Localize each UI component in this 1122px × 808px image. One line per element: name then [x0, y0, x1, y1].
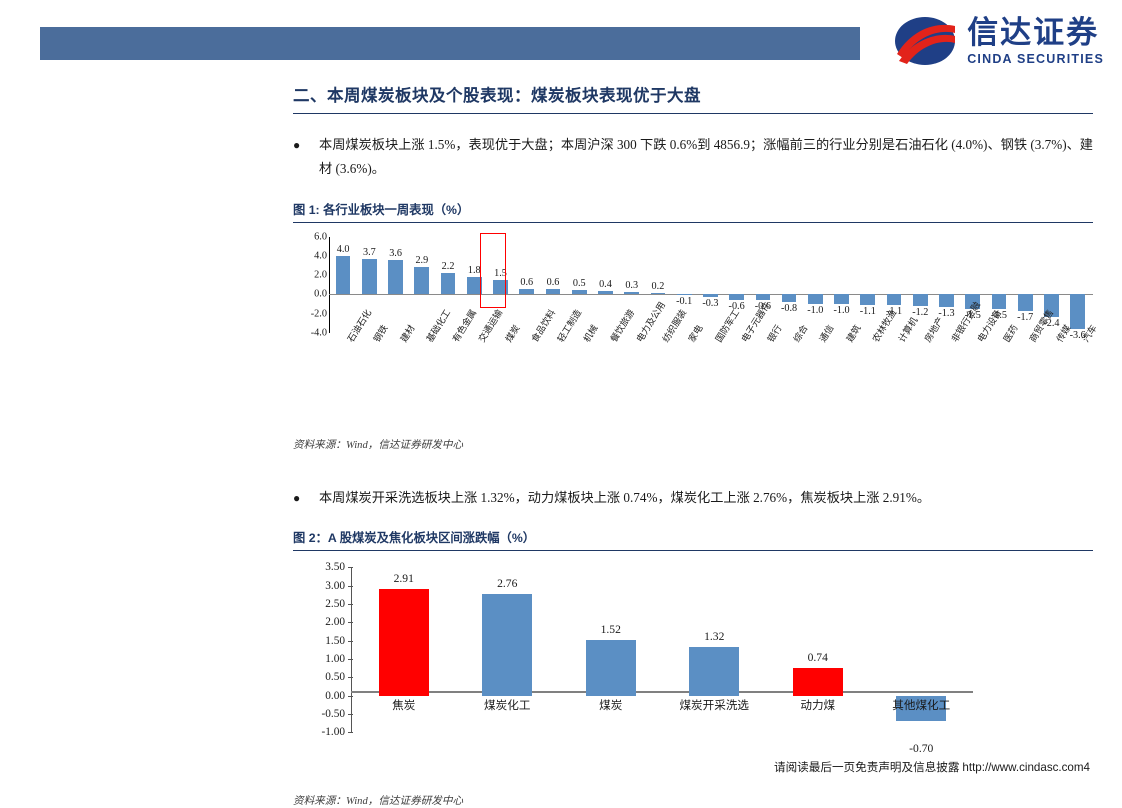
chart1-bar	[467, 277, 482, 294]
logo-text-en: CINDA SECURITIES	[967, 53, 1104, 66]
chart1-bar	[808, 294, 823, 304]
chart1-bar	[546, 289, 561, 295]
chart2-value-label: 1.32	[704, 630, 724, 643]
chart1-value-label: 0.3	[625, 280, 638, 291]
chart1-value-label: -0.1	[676, 296, 692, 307]
chart2-bar-column: 2.91焦炭	[352, 567, 456, 732]
chart2-y-tick: 3.00	[325, 580, 345, 592]
chart1-value-label: 2.9	[415, 255, 428, 266]
chart1-bar	[572, 290, 587, 295]
chart2-y-tick: 0.00	[325, 690, 345, 702]
logo-text-cn: 信达证券	[967, 17, 1104, 48]
header-accent-bar	[40, 27, 860, 60]
chart1-bar-column: -1.0	[802, 237, 828, 333]
chart2-y-axis: 3.503.002.502.001.501.000.500.00-0.50-1.…	[307, 567, 349, 732]
bullet-text: 本周煤炭开采洗选板块上涨 1.32%，动力煤板块上涨 0.74%，煤炭化工上涨 …	[319, 486, 1093, 510]
chart1-value-label: -1.7	[1017, 312, 1033, 323]
chart1-bar	[493, 280, 508, 294]
chart1-bar-column: 0.6	[514, 237, 540, 333]
chart2-y-tick: 2.00	[325, 616, 345, 628]
bullet-marker: ●	[293, 133, 319, 182]
chart2-bar	[482, 594, 532, 695]
figure2-title: 图 2：A 股煤炭及焦化板块区间涨跌幅（%）	[293, 528, 1093, 551]
chart1-value-label: 0.6	[520, 277, 533, 288]
chart1-value-label: -0.8	[781, 303, 797, 314]
chart1-bar	[677, 294, 692, 295]
chart2-bars: 2.91焦炭2.76煤炭化工1.52煤炭1.32煤炭开采洗选0.74动力煤-0.…	[352, 567, 973, 732]
chart2-y-tick: 1.00	[325, 653, 345, 665]
chart1-bar	[362, 259, 377, 295]
figure1-source: 资料来源：Wind，信达证券研发中心	[293, 437, 1093, 452]
chart1-value-label: 3.6	[389, 248, 402, 259]
bullet-text: 本周煤炭板块上涨 1.5%，表现优于大盘；本周沪深 300 下跌 0.6%到 4…	[319, 133, 1093, 182]
chart2-value-label: -0.70	[909, 742, 933, 755]
chart2-category-label: 煤炭化工	[484, 697, 530, 713]
chart2-bar	[689, 647, 739, 695]
chart1-bar	[1018, 294, 1033, 310]
chart1-y-tick: 0.0	[314, 289, 327, 300]
chart1-bar	[598, 291, 613, 295]
figure2-chart: 3.503.002.502.001.501.000.500.00-0.50-1.…	[307, 567, 1093, 767]
chart2-category-label: 煤炭	[599, 697, 622, 713]
chart2-tick-mark	[348, 732, 353, 733]
chart1-bar	[414, 267, 429, 295]
page-content: 二、本周煤炭板块及个股表现：煤炭板块表现优于大盘 ● 本周煤炭板块上涨 1.5%…	[293, 82, 1093, 808]
chart1-value-label: 4.0	[337, 244, 350, 255]
chart1-bar	[729, 294, 744, 300]
chart2-bar	[586, 640, 636, 696]
chart1-value-label: 0.5	[573, 278, 586, 289]
chart2-y-tick: -0.50	[321, 708, 345, 720]
logo-mark-icon	[893, 14, 957, 68]
figure1-title: 图 1: 各行业板块一周表现（%）	[293, 200, 1093, 223]
chart2-bar-column: 1.32煤炭开采洗选	[663, 567, 767, 732]
chart2-bar-column: -0.70其他煤化工	[870, 567, 974, 732]
chart1-bar	[782, 294, 797, 302]
bullet-paragraph-1: ● 本周煤炭板块上涨 1.5%，表现优于大盘；本周沪深 300 下跌 0.6%到…	[293, 133, 1093, 182]
chart2-bar-column: 0.74动力煤	[766, 567, 870, 732]
chart1-bar-column: 4.0	[330, 237, 356, 333]
chart1-bar-column: -3.6	[1065, 237, 1091, 333]
chart1-bar	[1070, 294, 1085, 329]
chart1-value-label: 3.7	[363, 247, 376, 258]
chart1-value-label: 2.2	[442, 261, 455, 272]
chart2-y-tick: 0.50	[325, 671, 345, 683]
bullet-marker: ●	[293, 486, 319, 510]
chart1-value-label: -1.1	[860, 306, 876, 317]
chart1-value-label: -1.2	[912, 307, 928, 318]
chart1-bar-column: -0.3	[697, 237, 723, 333]
page-footer: 请阅读最后一页免责声明及信息披露 http://www.cindasc.com4	[774, 759, 1090, 775]
chart2-value-label: 2.76	[497, 577, 517, 590]
chart2-value-label: 1.52	[601, 623, 621, 636]
footer-page-number: 4	[1084, 761, 1090, 774]
footer-disclaimer: 请阅读最后一页免责声明及信息披露	[774, 761, 960, 774]
chart2-bar-column: 2.76煤炭化工	[456, 567, 560, 732]
chart1-value-label: 1.5	[494, 268, 507, 279]
chart2-value-label: 2.91	[394, 572, 414, 585]
chart2-category-label: 煤炭开采洗选	[679, 697, 749, 713]
chart1-bar	[887, 294, 902, 305]
bullet-paragraph-2: ● 本周煤炭开采洗选板块上涨 1.32%，动力煤板块上涨 0.74%，煤炭化工上…	[293, 486, 1093, 510]
chart1-y-axis: 6.04.02.00.0-2.0-4.0	[293, 237, 327, 333]
section-heading: 二、本周煤炭板块及个股表现：煤炭板块表现优于大盘	[293, 82, 1093, 114]
company-logo: 信达证券 CINDA SECURITIES	[893, 14, 1104, 68]
chart2-bar	[379, 589, 429, 696]
chart1-value-label: 0.2	[652, 281, 665, 292]
chart1-bar	[913, 294, 928, 306]
chart2-y-tick: -1.00	[321, 726, 345, 738]
chart2-y-tick: 2.50	[325, 598, 345, 610]
chart1-bar	[336, 256, 351, 294]
chart2-value-label: 0.74	[808, 651, 828, 664]
chart1-bar	[703, 294, 718, 297]
chart1-y-tick: 2.0	[314, 270, 327, 281]
chart2-y-tick: 3.50	[325, 561, 345, 573]
chart1-y-tick: -2.0	[311, 308, 327, 319]
chart1-value-label: -0.3	[702, 298, 718, 309]
chart2-category-label: 焦炭	[392, 697, 415, 713]
figure2-source: 资料来源：Wind，信达证券研发中心	[293, 793, 1093, 808]
footer-url: http://www.cindasc.com	[962, 761, 1083, 774]
chart1-bar	[441, 273, 456, 294]
chart2-category-label: 其他煤化工	[892, 697, 950, 713]
chart1-value-label: -1.0	[833, 305, 849, 316]
chart1-bar	[834, 294, 849, 304]
chart1-bar-column: -1.7	[1012, 237, 1038, 333]
chart1-bar-column: -1.1	[855, 237, 881, 333]
chart1-bar-column: -1.0	[828, 237, 854, 333]
chart1-value-label: 1.8	[468, 265, 481, 276]
chart2-y-tick: 1.50	[325, 635, 345, 647]
chart1-y-tick: 6.0	[314, 231, 327, 242]
chart1-value-label: 0.6	[547, 277, 560, 288]
chart1-bar	[388, 260, 403, 295]
chart2-bar	[793, 668, 843, 695]
figure1-chart: 6.04.02.00.0-2.0-4.0 4.03.73.62.92.21.81…	[293, 237, 1093, 427]
chart1-value-label: 0.4	[599, 279, 612, 290]
chart1-bar-column: -0.8	[776, 237, 802, 333]
chart2-bar-column: 1.52煤炭	[559, 567, 663, 732]
chart1-bar	[860, 294, 875, 305]
chart2-category-label: 动力煤	[800, 697, 835, 713]
chart1-bar-column: 2.9	[409, 237, 435, 333]
chart1-bar	[939, 294, 954, 306]
chart1-bar	[624, 292, 639, 295]
chart1-category-labels: 石油石化钢铁建材基础化工有色金属交通运输煤炭食品饮料轻工制造机械餐饮旅游电力及公…	[330, 335, 1091, 415]
chart1-value-label: -1.0	[807, 305, 823, 316]
chart1-y-tick: 4.0	[314, 251, 327, 262]
chart1-bar-column: 3.6	[382, 237, 408, 333]
chart1-bar-column: 0.4	[592, 237, 618, 333]
chart1-y-tick: -4.0	[311, 327, 327, 338]
chart1-bar	[651, 293, 666, 295]
chart1-bar	[519, 289, 534, 295]
